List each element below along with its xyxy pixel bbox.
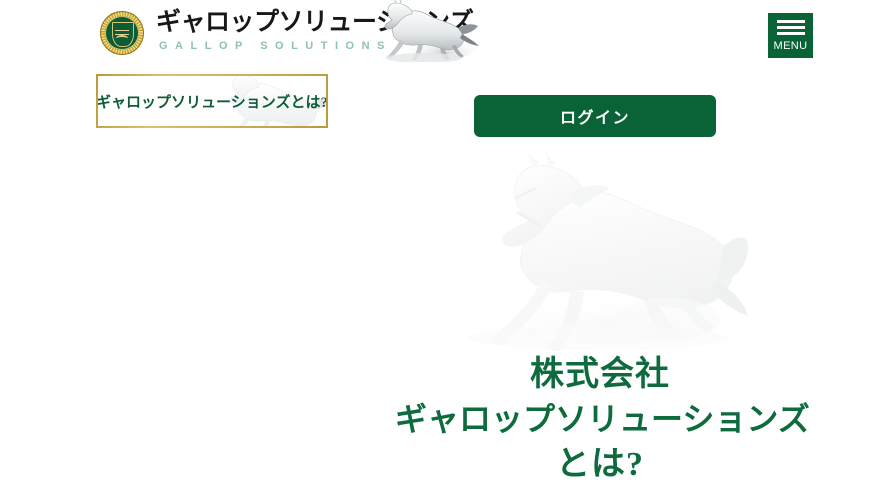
menu-button[interactable]: MENU — [768, 13, 813, 58]
hero-heading-line: とは? — [395, 442, 805, 487]
hero-heading-line: ギャロップソリューションズ — [395, 397, 805, 442]
hamburger-icon-bar — [777, 20, 805, 23]
login-button-label: ログイン — [560, 104, 630, 128]
hamburger-icon-bar — [777, 26, 805, 29]
logo-text: ギャロップソリューションズ GALLOP SOLUTIONS — [156, 8, 474, 53]
hamburger-icon-bar — [777, 32, 805, 35]
login-button[interactable]: ログイン — [474, 95, 716, 137]
running-horse-hero-photo — [418, 152, 748, 352]
logo-subtitle: GALLOP SOLUTIONS — [156, 39, 474, 53]
gallop-crest-icon — [100, 11, 144, 55]
menu-button-label: MENU — [774, 40, 808, 52]
shield-icon — [112, 22, 134, 47]
nav-tab-about[interactable]: ギャロップソリューションズとは? — [96, 74, 328, 128]
hero-heading-line: 株式会社 — [395, 352, 805, 397]
nav-tab-label: ギャロップソリューションズとは? — [96, 91, 328, 112]
site-header: ギャロップソリューションズ GALLOP SOLUTIONS — [0, 0, 870, 72]
hero-heading: 株式会社 ギャロップソリューションズ とは? — [395, 352, 805, 487]
site-logo[interactable]: ギャロップソリューションズ GALLOP SOLUTIONS — [100, 8, 474, 63]
logo-title: ギャロップソリューションズ — [156, 8, 474, 38]
